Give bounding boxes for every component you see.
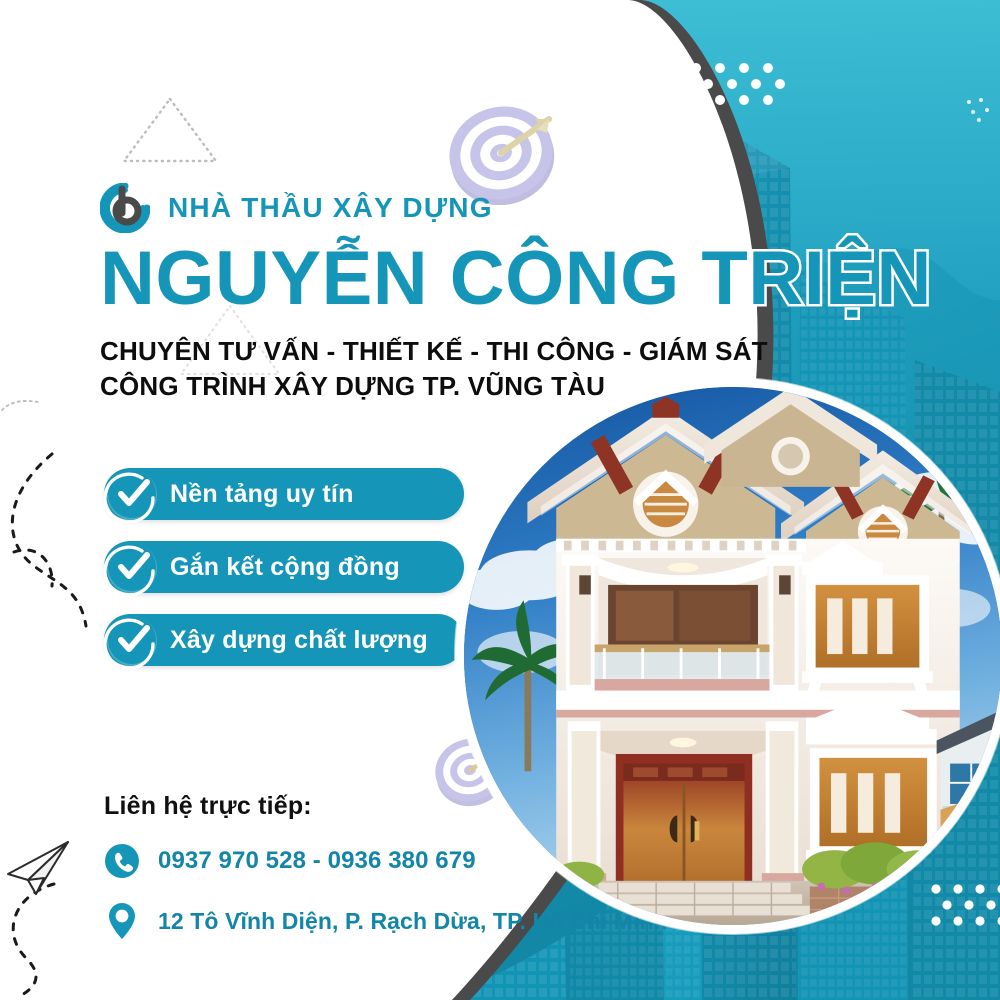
feature-label: Gắn kết cộng đồng [170, 553, 400, 582]
feature-pill-3[interactable]: Xây dựng chất lượng [104, 614, 464, 666]
villa-illustration [464, 387, 1000, 925]
feature-label: Nền tảng uy tín [170, 480, 354, 509]
header-block: NHÀ THẦU XÂY DỰNG NGUYỄN CÔNG TRIỆN CHUY… [100, 182, 890, 404]
phone-icon [104, 841, 140, 881]
b-monogram-logo-icon [100, 183, 150, 233]
contact-phone-value: 0937 970 528 - 0936 380 679 [158, 847, 476, 875]
subtitle-line-1: CHUYÊN TƯ VẤN - THIẾT KẾ - THI CÔNG - GI… [100, 334, 890, 369]
page-title: NGUYỄN CÔNG TRIỆN [100, 238, 890, 320]
feature-pill-2[interactable]: Gắn kết cộng đồng [104, 541, 464, 593]
feature-pill-1[interactable]: Nền tảng uy tín [104, 468, 464, 520]
villa-house-photo [455, 378, 1000, 934]
check-circle-icon [102, 610, 162, 670]
feature-list: Nền tảng uy tín Gắn kết cộng đồng Xây dự… [104, 468, 464, 687]
banner-canvas: NHÀ THẦU XÂY DỰNG NGUYỄN CÔNG TRIỆN CHUY… [0, 0, 1000, 1000]
check-circle-icon [102, 464, 162, 524]
feature-label: Xây dựng chất lượng [170, 626, 428, 655]
brand-logo-row: NHÀ THẦU XÂY DỰNG [100, 182, 890, 234]
check-circle-icon [102, 537, 162, 597]
brand-eyebrow: NHÀ THẦU XÂY DỰNG [168, 192, 493, 224]
contact-address-value: 12 Tô Vĩnh Diện, P. Rạch Dừa, TP. Hồ Chí… [158, 908, 668, 935]
location-pin-icon [104, 901, 140, 941]
